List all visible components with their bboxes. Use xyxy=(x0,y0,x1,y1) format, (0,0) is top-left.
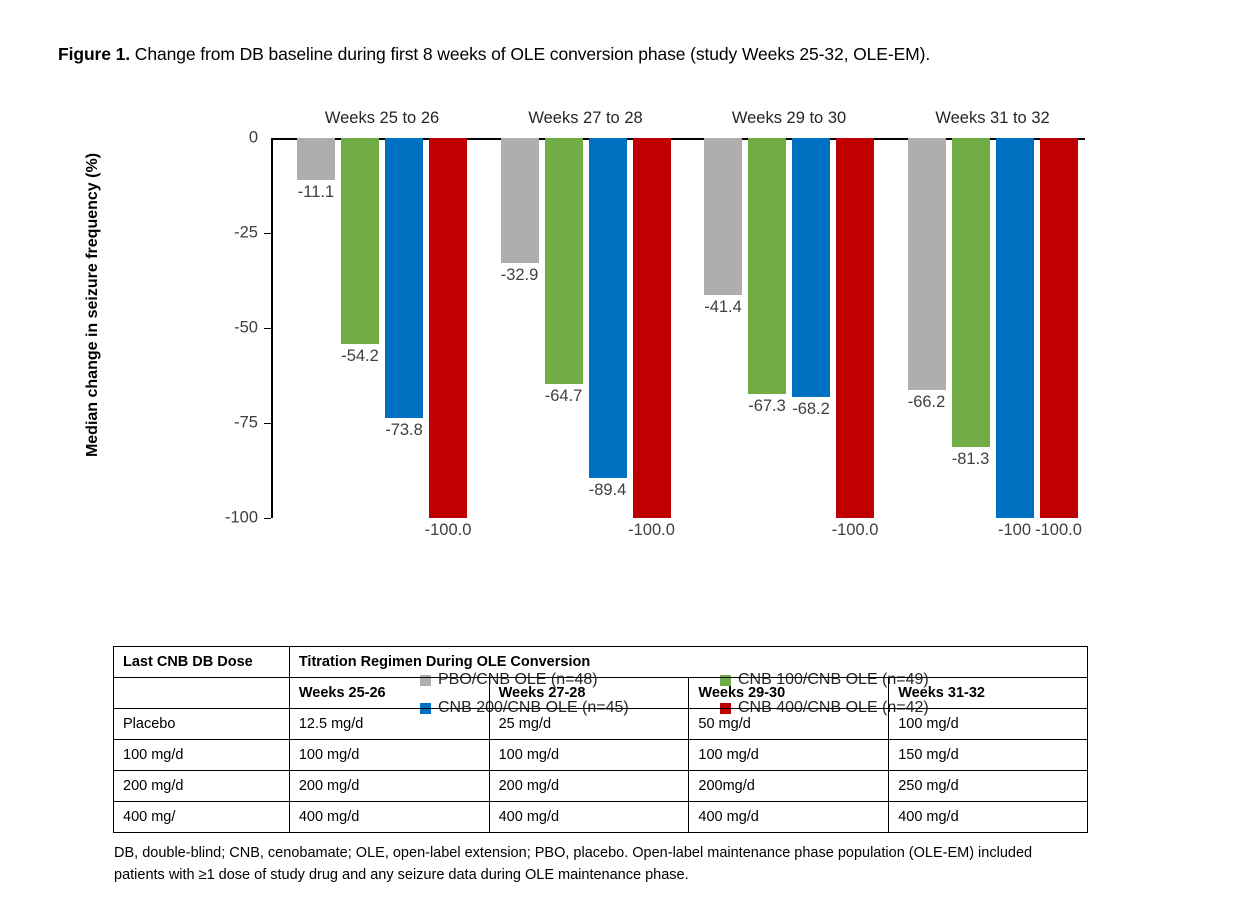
table-row: 400 mg/400 mg/d400 mg/d400 mg/d400 mg/d xyxy=(114,802,1088,833)
bar-value-label: -73.8 xyxy=(385,421,423,440)
bar[interactable] xyxy=(1040,138,1078,518)
table-cell: Placebo xyxy=(114,709,290,740)
table-header-row-2: Weeks 25-26Weeks 27-28Weeks 29-30Weeks 3… xyxy=(114,678,1088,709)
bar[interactable] xyxy=(429,138,467,518)
y-tick-label: -75 xyxy=(212,414,258,433)
table-cell: 200mg/d xyxy=(689,771,889,802)
table-row: 100 mg/d100 mg/d100 mg/d100 mg/d150 mg/d xyxy=(114,740,1088,771)
y-tick-label: -25 xyxy=(212,224,258,243)
bar[interactable] xyxy=(792,138,830,397)
table-cell: 200 mg/d xyxy=(114,771,290,802)
bar-value-label: -11.1 xyxy=(298,183,334,202)
bar[interactable] xyxy=(836,138,874,518)
bar-value-label: -67.3 xyxy=(748,397,786,416)
table-cell: 12.5 mg/d xyxy=(289,709,489,740)
bar[interactable] xyxy=(704,138,742,295)
bar-value-label: -100.0 xyxy=(1035,521,1082,540)
bar-value-label: -100.0 xyxy=(425,521,472,540)
table-header-cell: Titration Regimen During OLE Conversion xyxy=(289,647,1087,678)
y-tick-mark xyxy=(264,518,271,519)
bar[interactable] xyxy=(297,138,335,180)
bar-value-label: -68.2 xyxy=(792,400,830,419)
y-tick-label: -50 xyxy=(212,319,258,338)
figure-caption-text: Change from DB baseline during first 8 w… xyxy=(130,44,930,64)
table-row: 200 mg/d200 mg/d200 mg/d200mg/d250 mg/d xyxy=(114,771,1088,802)
group-header: Weeks 27 to 28 xyxy=(528,109,642,128)
y-tick-mark xyxy=(264,328,271,329)
table-header-row-1: Last CNB DB DoseTitration Regimen During… xyxy=(114,647,1088,678)
table-header-cell: Last CNB DB Dose xyxy=(114,647,290,678)
table-cell: 200 mg/d xyxy=(489,771,689,802)
y-tick-mark xyxy=(264,233,271,234)
table-cell: 50 mg/d xyxy=(689,709,889,740)
bar[interactable] xyxy=(501,138,539,263)
group-header: Weeks 29 to 30 xyxy=(732,109,846,128)
table-cell: 400 mg/d xyxy=(489,802,689,833)
bar-value-label: -89.4 xyxy=(589,481,627,500)
bar[interactable] xyxy=(748,138,786,394)
titration-regimen-table: Last CNB DB DoseTitration Regimen During… xyxy=(113,646,1088,833)
group-header: Weeks 31 to 32 xyxy=(935,109,1049,128)
table-cell: 100 mg/d xyxy=(689,740,889,771)
plot-area: -11.1-54.2-73.8-100.0-32.9-64.7-89.4-100… xyxy=(271,138,1085,518)
table-cell: 100 mg/d xyxy=(889,709,1088,740)
y-axis-tick-labels: 0-25-50-75-100 xyxy=(212,100,258,530)
figure-caption: Figure 1. Change from DB baseline during… xyxy=(58,44,930,65)
bar[interactable] xyxy=(908,138,946,390)
table-cell: 400 mg/d xyxy=(689,802,889,833)
bar[interactable] xyxy=(341,138,379,344)
y-tick-mark xyxy=(264,423,271,424)
y-tick-label: -100 xyxy=(212,509,258,528)
group-header: Weeks 25 to 26 xyxy=(325,109,439,128)
table-cell: 100 mg/d xyxy=(114,740,290,771)
bar-value-label: -32.9 xyxy=(501,266,539,285)
table-row: Placebo12.5 mg/d25 mg/d50 mg/d100 mg/d xyxy=(114,709,1088,740)
table-cell: 150 mg/d xyxy=(889,740,1088,771)
bar[interactable] xyxy=(996,138,1034,518)
table-header-cell xyxy=(114,678,290,709)
bar[interactable] xyxy=(952,138,990,447)
bar[interactable] xyxy=(545,138,583,384)
table-cell: 400 mg/d xyxy=(889,802,1088,833)
bar-value-label: -100.0 xyxy=(832,521,879,540)
bar-value-label: -64.7 xyxy=(545,387,583,406)
table-header-cell: Weeks 27-28 xyxy=(489,678,689,709)
table-cell: 100 mg/d xyxy=(489,740,689,771)
bar-value-label: -81.3 xyxy=(952,450,990,469)
bar-value-label: -54.2 xyxy=(341,347,379,366)
table-cell: 25 mg/d xyxy=(489,709,689,740)
bar-value-label: -66.2 xyxy=(908,393,946,412)
table-cell: 200 mg/d xyxy=(289,771,489,802)
table-cell: 400 mg/d xyxy=(289,802,489,833)
figure-label: Figure 1. xyxy=(58,44,130,64)
bar-chart: Median change in seizure frequency (%) 0… xyxy=(0,100,1248,630)
y-axis-title: Median change in seizure frequency (%) xyxy=(84,140,102,470)
bar-value-label: -41.4 xyxy=(704,298,742,317)
table-cell: 100 mg/d xyxy=(289,740,489,771)
bar-value-label: -100 xyxy=(998,521,1031,540)
table-header-cell: Weeks 25-26 xyxy=(289,678,489,709)
bar[interactable] xyxy=(589,138,627,478)
table-header-cell: Weeks 29-30 xyxy=(689,678,889,709)
table-cell: 250 mg/d xyxy=(889,771,1088,802)
table-cell: 400 mg/ xyxy=(114,802,290,833)
footnote: DB, double-blind; CNB, cenobamate; OLE, … xyxy=(114,842,1074,887)
bar[interactable] xyxy=(385,138,423,418)
bar-value-label: -100.0 xyxy=(628,521,675,540)
y-tick-label: 0 xyxy=(212,129,258,148)
table-header-cell: Weeks 31-32 xyxy=(889,678,1088,709)
bar[interactable] xyxy=(633,138,671,518)
